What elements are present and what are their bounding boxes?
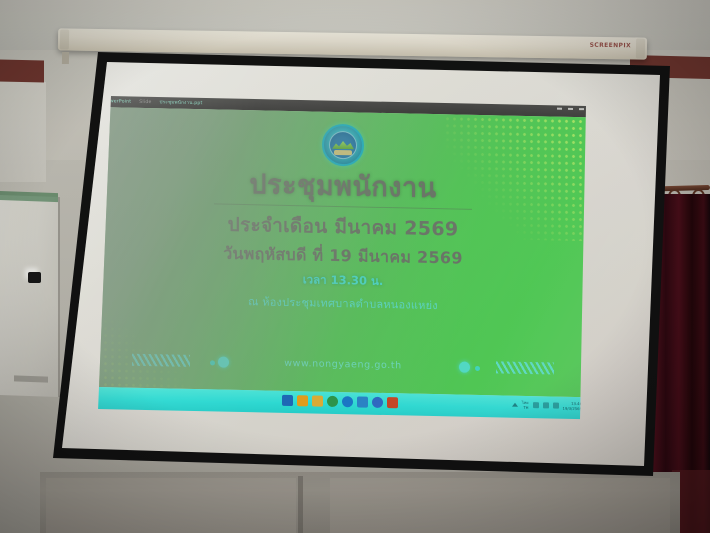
titlebar-menu-label[interactable]: Slide — [139, 99, 151, 104]
start-icon[interactable] — [282, 395, 293, 406]
furniture-seam — [298, 476, 303, 533]
meeting-room-scene: SCREENPIX PowerPoint Slide ประชุมพนักงาน… — [0, 0, 710, 533]
cabinet-base-trim — [14, 375, 48, 382]
tray-language-indicator[interactable]: ไทยTH — [522, 400, 529, 410]
presentation-slide: ประชุมพนักงาน ประจำเดือน มีนาคม 2569 วัน… — [98, 107, 588, 397]
wall-panel-left — [0, 82, 46, 182]
clock[interactable]: 13.4619/3/2569 — [563, 401, 582, 412]
powerpoint-icon[interactable] — [387, 397, 398, 408]
furniture-panel — [46, 478, 296, 533]
edge-icon[interactable] — [342, 396, 353, 407]
media-icon[interactable] — [357, 396, 368, 407]
minimize-icon[interactable] — [557, 108, 562, 110]
furniture-panel — [330, 478, 670, 533]
housing-brand-label: SCREENPIX — [590, 42, 632, 50]
housing-end-cap-left — [60, 29, 69, 49]
close-icon[interactable] — [579, 108, 584, 110]
wall-trim-left — [0, 60, 44, 83]
wall-cabinet — [0, 195, 60, 397]
cabinet-handle — [28, 272, 41, 283]
network-icon[interactable] — [533, 402, 539, 408]
chrome-icon[interactable] — [327, 396, 338, 407]
window-controls[interactable] — [557, 108, 584, 110]
show-hidden-icons-icon[interactable] — [512, 403, 518, 407]
explorer-icon[interactable] — [297, 395, 308, 406]
titlebar-file-label: ประชุมพนักงาน.ppt — [160, 99, 203, 107]
taskbar-icon-group[interactable] — [282, 395, 398, 408]
browser-icon[interactable] — [372, 397, 383, 408]
maximize-icon[interactable] — [568, 108, 573, 110]
system-tray[interactable]: ไทยTH 13.4619/3/2569 — [512, 400, 582, 412]
folder-icon[interactable] — [312, 395, 323, 406]
volume-icon[interactable] — [543, 402, 549, 408]
projection-light-falloff — [98, 107, 588, 397]
battery-icon[interactable] — [553, 403, 559, 409]
